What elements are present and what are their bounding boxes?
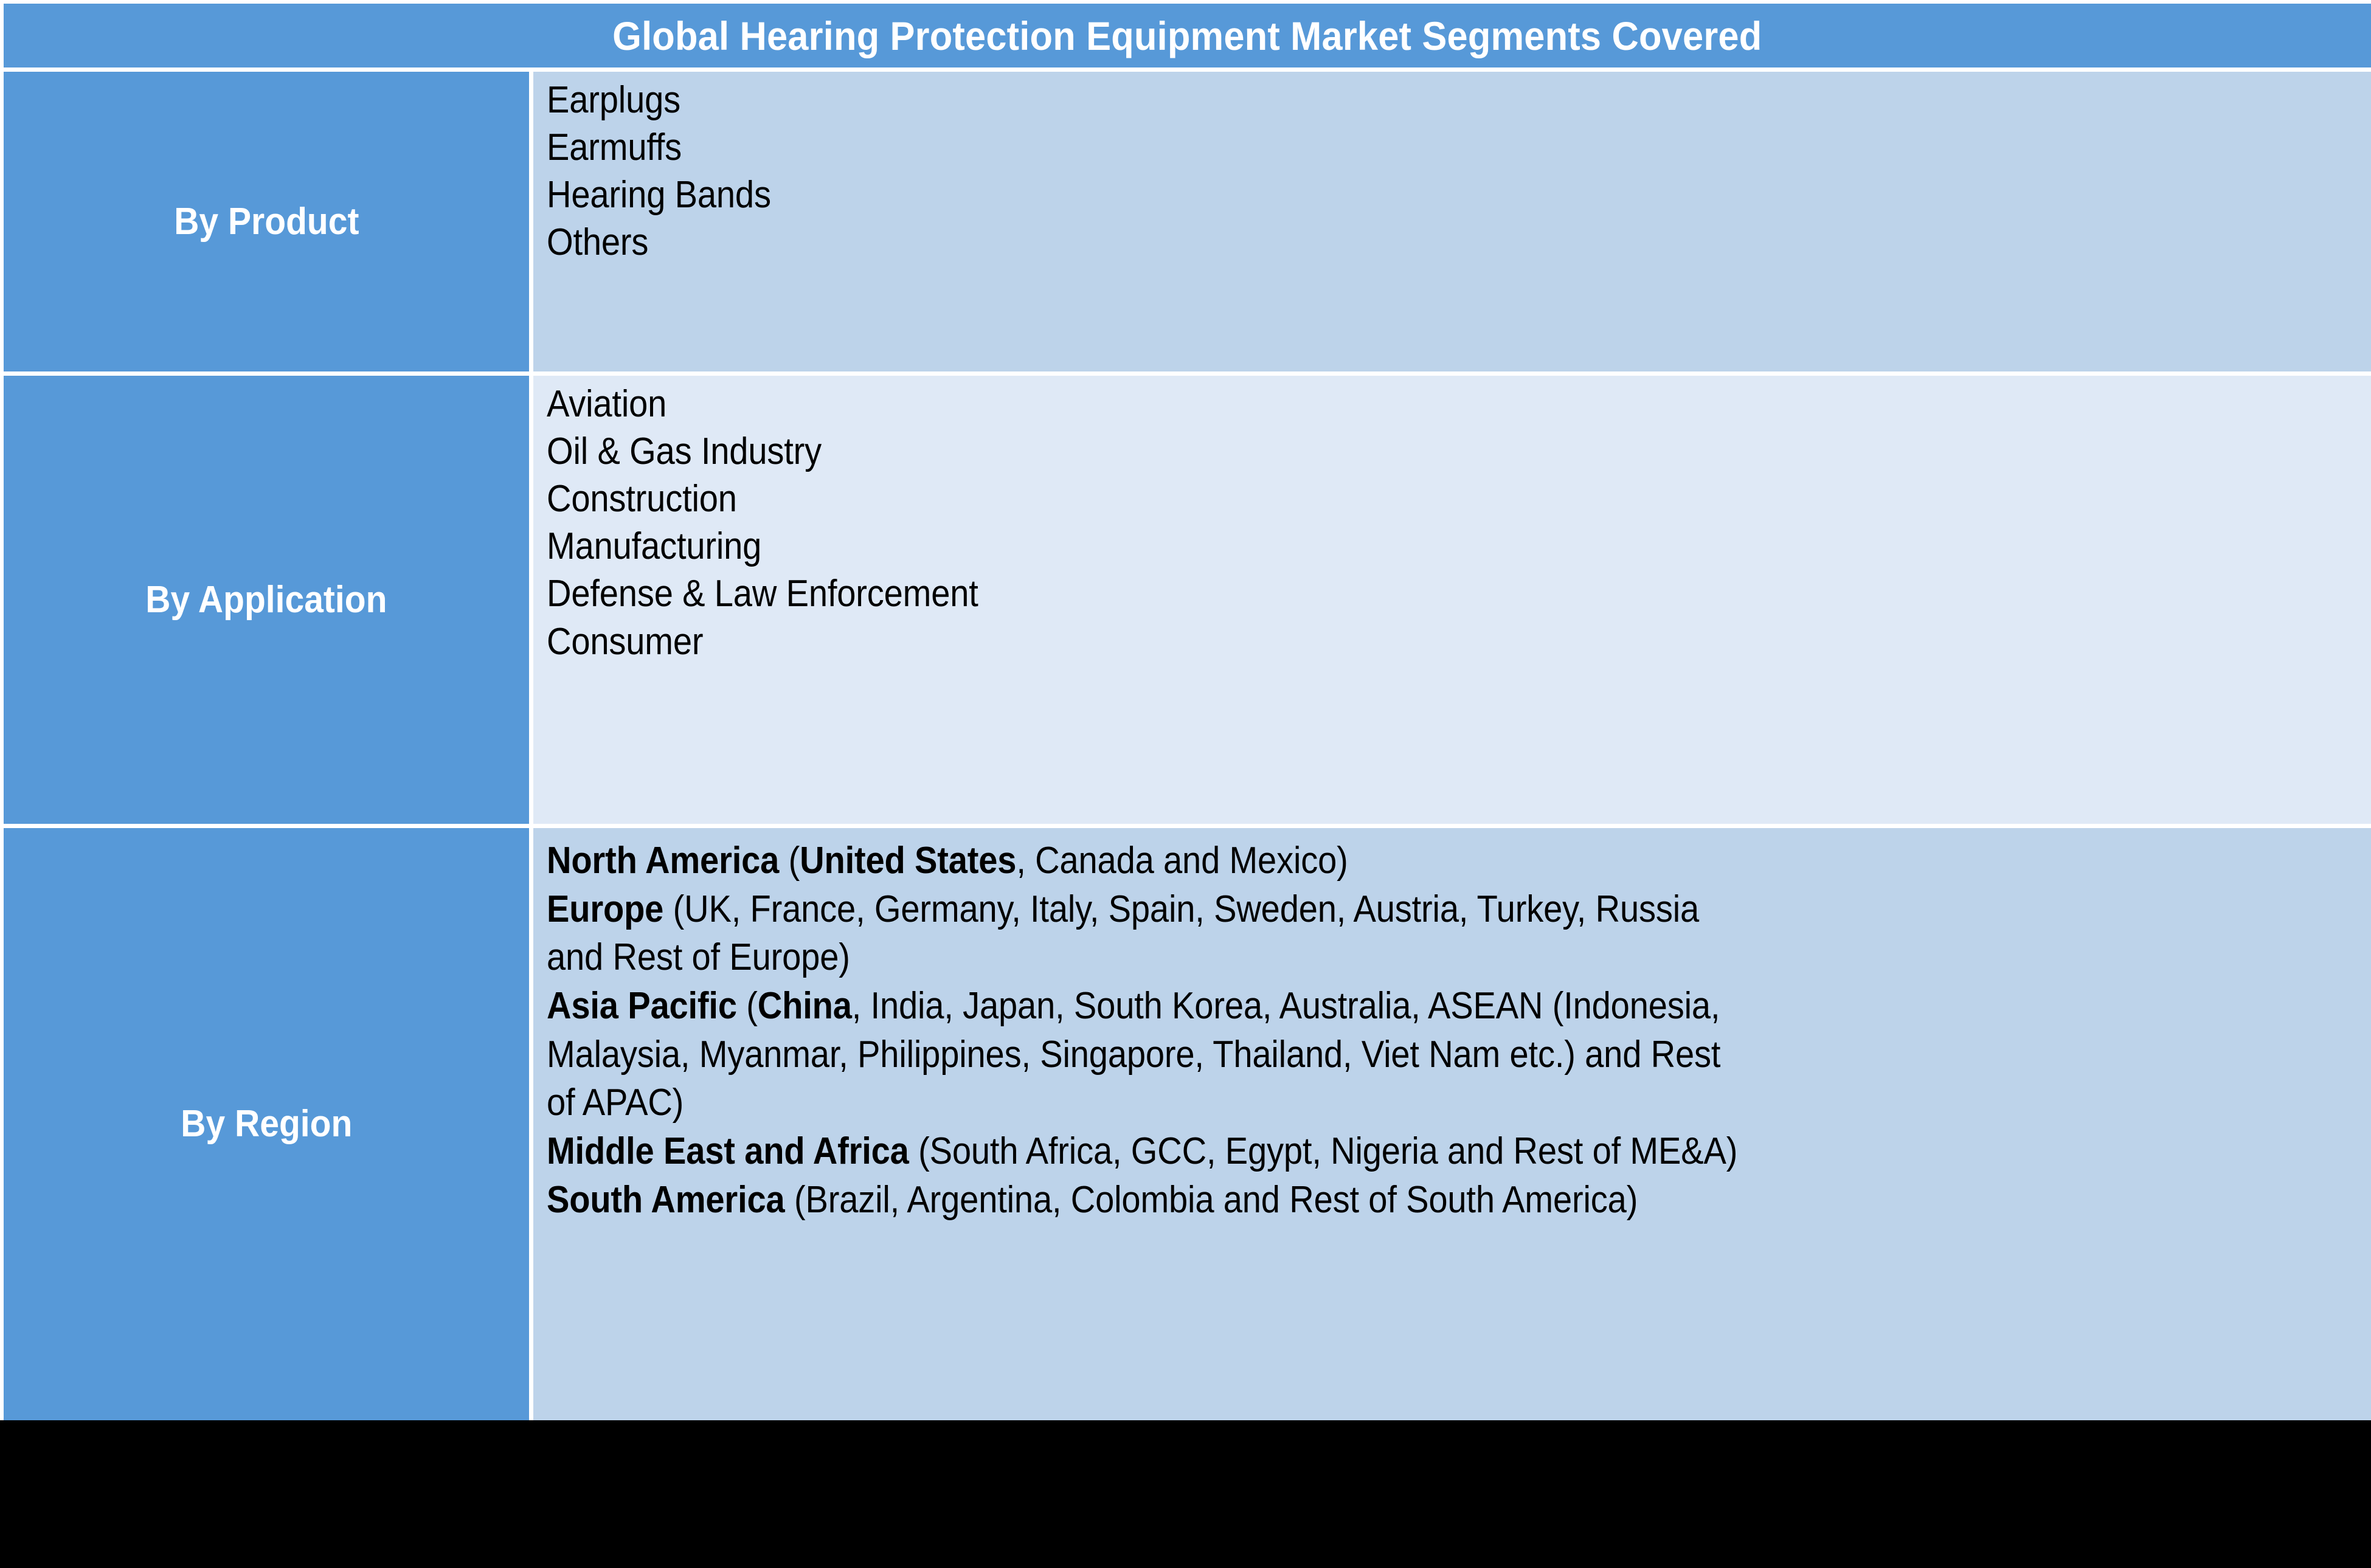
region-line: Asia Pacific (China, India, Japan, South… <box>547 982 2198 1031</box>
row-label-text: By Application <box>145 580 387 620</box>
row-label-text: By Product <box>174 202 359 241</box>
region-line: and Rest of Europe) <box>547 933 2198 982</box>
list-item: Manufacturing <box>547 523 2198 570</box>
list-item: Construction <box>547 475 2198 523</box>
page-title: Global Hearing Protection Equipment Mark… <box>612 16 1762 56</box>
table-header-row: Global Hearing Protection Equipment Mark… <box>0 0 2371 67</box>
list-item: Others <box>547 219 2198 266</box>
list-item: Aviation <box>547 381 2198 428</box>
table-row-by-region: By Region North America (United States, … <box>0 824 2371 1420</box>
list-item: Oil & Gas Industry <box>547 428 2198 475</box>
list-item: Hearing Bands <box>547 171 2198 219</box>
table-row-by-application: By Application Aviation Oil & Gas Indust… <box>0 371 2371 824</box>
bottom-black-fill <box>0 1420 2371 1568</box>
row-label-text: By Region <box>181 1104 352 1144</box>
list-item: Earmuffs <box>547 124 2198 171</box>
row-label-by-product: By Product <box>4 72 529 371</box>
region-line: Middle East and Africa (South Africa, GC… <box>547 1127 2198 1176</box>
row-label-by-application: By Application <box>4 376 529 824</box>
segments-table: Global Hearing Protection Equipment Mark… <box>0 0 2371 1420</box>
row-content-by-product: Earplugs Earmuffs Hearing Bands Others <box>533 72 2371 371</box>
region-line: North America (United States, Canada and… <box>547 837 2198 885</box>
row-content-by-application: Aviation Oil & Gas Industry Construction… <box>533 376 2371 824</box>
row-content-by-region: North America (United States, Canada and… <box>533 828 2371 1420</box>
table-row-by-product: By Product Earplugs Earmuffs Hearing Ban… <box>0 67 2371 371</box>
list-item: Consumer <box>547 618 2198 666</box>
list-item: Defense & Law Enforcement <box>547 570 2198 618</box>
region-line: Malaysia, Myanmar, Philippines, Singapor… <box>547 1031 2198 1079</box>
region-line: of APAC) <box>547 1079 2198 1127</box>
table-title-cell: Global Hearing Protection Equipment Mark… <box>4 4 2371 67</box>
region-line: South America (Brazil, Argentina, Colomb… <box>547 1176 2198 1224</box>
row-label-by-region: By Region <box>4 828 529 1420</box>
region-line: Europe (UK, France, Germany, Italy, Spai… <box>547 885 2198 934</box>
list-item: Earplugs <box>547 77 2198 124</box>
